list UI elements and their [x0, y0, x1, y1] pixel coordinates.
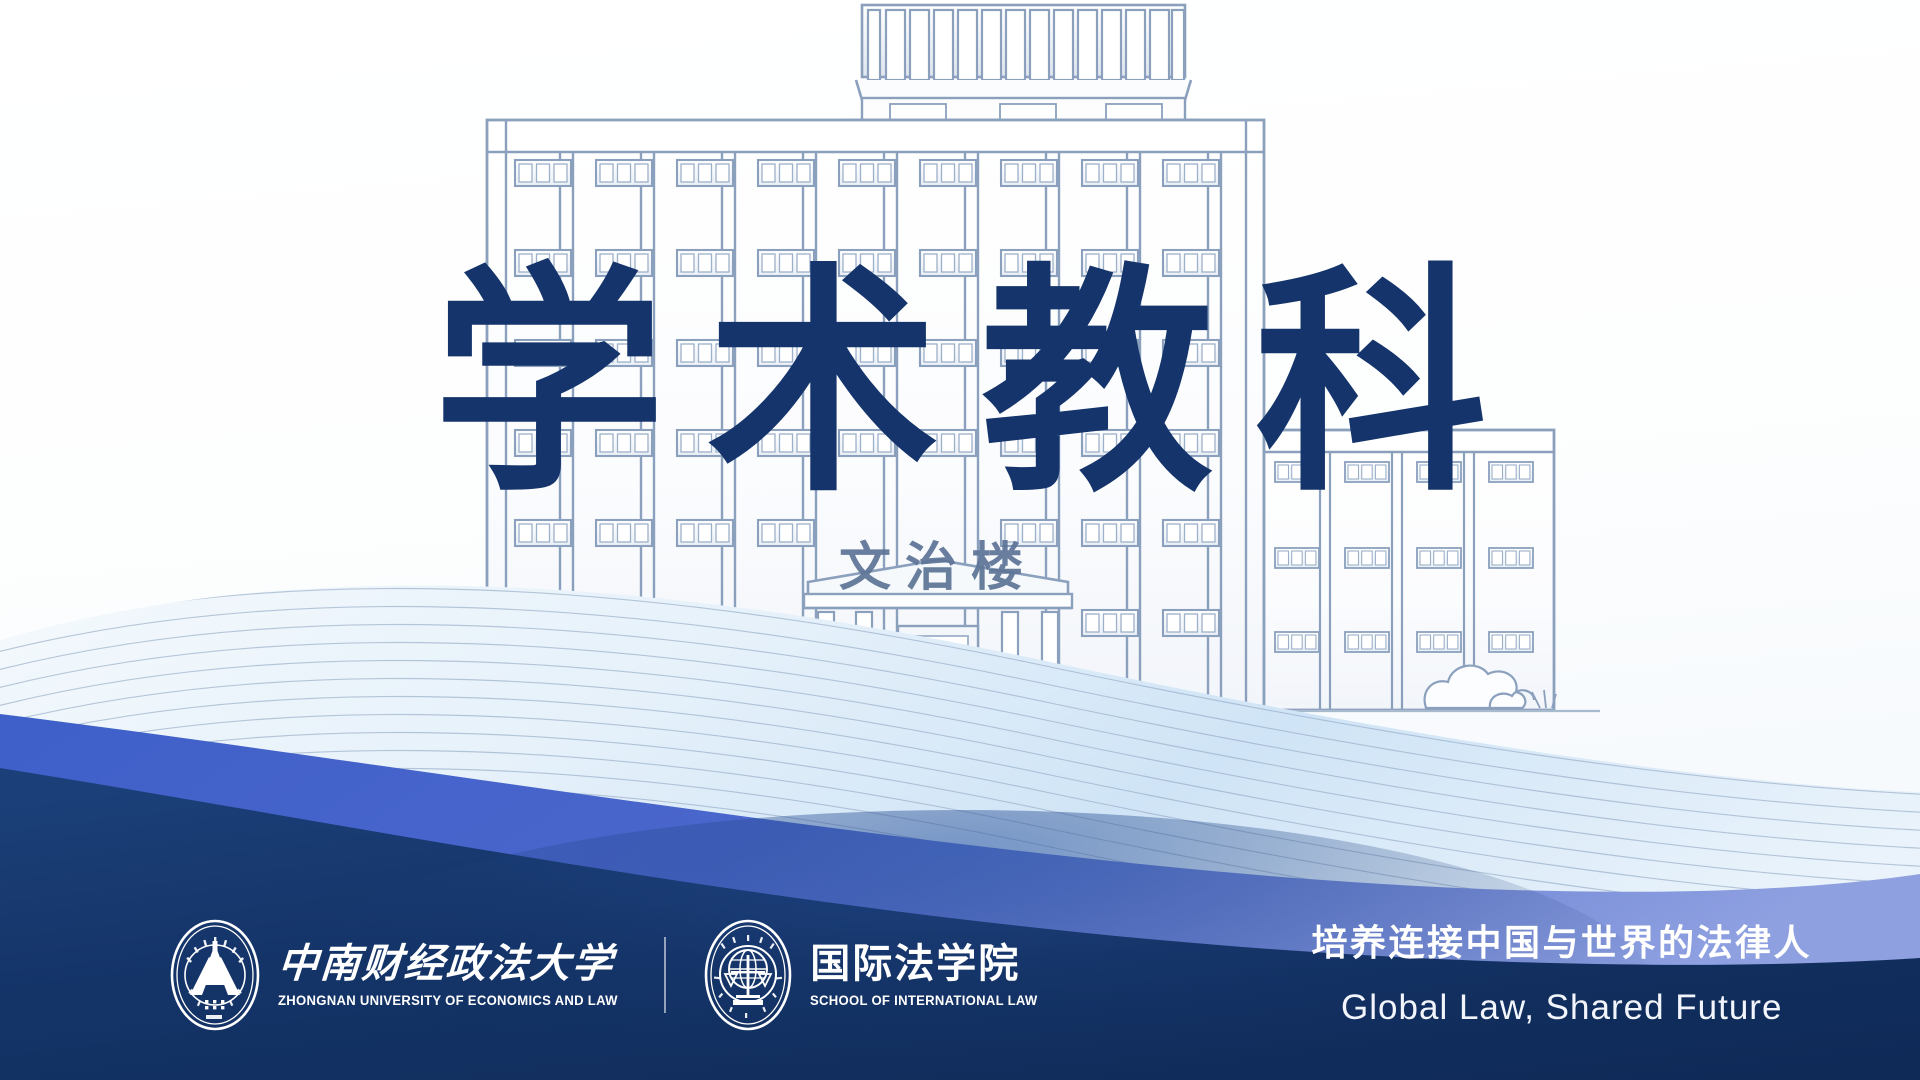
school-name-en: SCHOOL OF INTERNATIONAL LAW	[810, 993, 1038, 1008]
university-text-block: 中南财经政法大学 ZHONGNAN UNIVERSITY OF ECONOMIC…	[278, 942, 628, 1009]
school-brand: 国际法学院 SCHOOL OF INTERNATIONAL LAW	[702, 917, 1045, 1033]
tagline-block: 培养连接中国与世界的法律人 Global Law, Shared Future	[1311, 922, 1812, 1027]
footer-bar: 中南财经政法大学 ZHONGNAN UNIVERSITY OF ECONOMIC…	[0, 870, 1920, 1080]
footer-brand-group: 中南财经政法大学 ZHONGNAN UNIVERSITY OF ECONOMIC…	[168, 917, 1045, 1033]
slide-canvas: 文治楼 学术教科	[0, 0, 1920, 1080]
brand-divider	[664, 937, 666, 1013]
school-name-cn: 国际法学院	[810, 942, 1020, 987]
building-left-canopy	[362, 608, 492, 710]
school-of-international-law-seal	[702, 917, 794, 1033]
tagline-en: Global Law, Shared Future	[1341, 988, 1782, 1028]
university-brand: 中南财经政法大学 ZHONGNAN UNIVERSITY OF ECONOMIC…	[168, 917, 628, 1033]
building-roof-tower	[846, 5, 1200, 122]
zhongnan-university-seal	[168, 917, 262, 1033]
school-text-block: 国际法学院 SCHOOL OF INTERNATIONAL LAW	[810, 942, 1045, 1009]
building-sign-text: 文治楼	[839, 538, 1037, 598]
tagline-cn: 培养连接中国与世界的法律人	[1311, 922, 1812, 965]
university-name-en: ZHONGNAN UNIVERSITY OF ECONOMICS AND LAW	[278, 993, 618, 1008]
university-name-cn: 中南财经政法大学	[276, 942, 615, 987]
building-right-annex	[1264, 430, 1554, 710]
